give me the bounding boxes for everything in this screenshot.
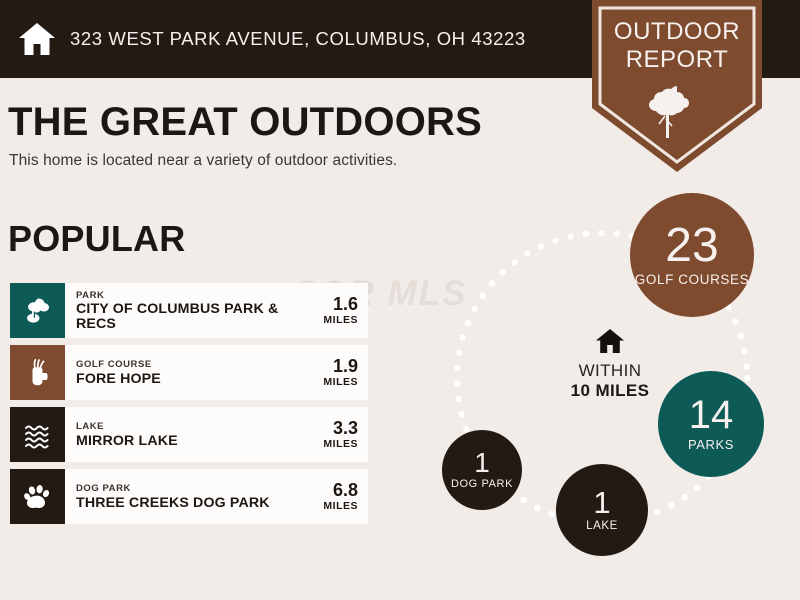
distance-unit: MILES [323, 376, 358, 389]
waves-icon [10, 407, 65, 462]
stat-count: 1 [474, 449, 490, 477]
list-item-card: PARK CITY OF COLUMBUS PARK & RECS 1.6 MI… [65, 283, 368, 338]
list-item-name: FORE HOPE [76, 371, 161, 387]
center-label-line1: WITHIN [530, 361, 690, 381]
stat-count: 1 [593, 487, 610, 518]
badge-title-line1: OUTDOOR [614, 18, 740, 45]
distance-unit: MILES [323, 438, 358, 451]
list-item-name: THREE CREEKS DOG PARK [76, 495, 270, 511]
list-item-distance: 1.6 MILES [317, 295, 358, 327]
popular-list: PARK CITY OF COLUMBUS PARK & RECS 1.6 MI… [10, 283, 368, 531]
property-address: 323 WEST PARK AVENUE, COLUMBUS, OH 43223 [70, 28, 526, 50]
diagram-center-node: WITHIN 10 MILES [530, 328, 690, 401]
list-item-card: GOLF COURSE FORE HOPE 1.9 MILES [65, 345, 368, 400]
list-item-card: LAKE MIRROR LAKE 3.3 MILES [65, 407, 368, 462]
stat-label: GOLF COURSES [635, 273, 749, 288]
stat-label: LAKE [586, 520, 618, 532]
list-item-labels: DOG PARK THREE CREEKS DOG PARK [76, 483, 270, 511]
badge-title: OUTDOOR REPORT [592, 18, 762, 74]
home-icon [18, 22, 56, 56]
distance-unit: MILES [323, 500, 358, 513]
list-item-category: LAKE [76, 421, 178, 433]
header-content: 323 WEST PARK AVENUE, COLUMBUS, OH 43223 [18, 0, 526, 78]
distance-value: 1.6 [323, 295, 358, 314]
page-subtitle: This home is located near a variety of o… [9, 152, 397, 170]
stat-count: 23 [665, 222, 718, 270]
outdoor-report-badge: OUTDOOR REPORT [592, 0, 762, 172]
distance-unit: MILES [323, 314, 358, 327]
stat-bubble-lake[interactable]: 1 LAKE [556, 464, 648, 556]
stat-label: PARKS [688, 438, 734, 452]
list-item-name: CITY OF COLUMBUS PARK & RECS [76, 302, 317, 332]
list-item-labels: PARK CITY OF COLUMBUS PARK & RECS [76, 290, 317, 332]
list-item[interactable]: GOLF COURSE FORE HOPE 1.9 MILES [10, 345, 368, 400]
list-item-distance: 3.3 MILES [317, 419, 358, 451]
page-title: THE GREAT OUTDOORS [8, 100, 482, 145]
distance-value: 3.3 [323, 419, 358, 438]
golf-bag-icon [10, 345, 65, 400]
distance-value: 1.9 [323, 357, 358, 376]
list-item-name: MIRROR LAKE [76, 433, 178, 449]
stat-count: 14 [689, 395, 734, 435]
distance-value: 6.8 [323, 481, 358, 500]
stat-bubble-parks[interactable]: 14 PARKS [658, 371, 764, 477]
list-item-distance: 1.9 MILES [317, 357, 358, 389]
tree-icon [10, 283, 65, 338]
list-item-labels: LAKE MIRROR LAKE [76, 421, 178, 449]
list-item[interactable]: DOG PARK THREE CREEKS DOG PARK 6.8 MILES [10, 469, 368, 524]
popular-section-title: POPULAR [8, 218, 185, 260]
list-item-category: GOLF COURSE [76, 359, 161, 371]
outdoor-report-page: COR MLS 323 WEST PARK AVENUE, COLUMBUS, … [0, 0, 800, 600]
list-item[interactable]: PARK CITY OF COLUMBUS PARK & RECS 1.6 MI… [10, 283, 368, 338]
home-icon [530, 328, 690, 354]
stat-label: DOG PARK [451, 479, 513, 491]
list-item-card: DOG PARK THREE CREEKS DOG PARK 6.8 MILES [65, 469, 368, 524]
list-item[interactable]: LAKE MIRROR LAKE 3.3 MILES [10, 407, 368, 462]
list-item-category: PARK [76, 290, 317, 302]
list-item-distance: 6.8 MILES [317, 481, 358, 513]
stat-bubble-golf-courses[interactable]: 23 GOLF COURSES [630, 193, 754, 317]
paw-icon [10, 469, 65, 524]
stat-bubble-dog-park[interactable]: 1 DOG PARK [442, 430, 522, 510]
within-10-miles-diagram: WITHIN 10 MILES 23 GOLF COURSES 14 PARKS… [410, 180, 800, 600]
list-item-labels: GOLF COURSE FORE HOPE [76, 359, 161, 387]
badge-title-line2: REPORT [592, 46, 762, 74]
list-item-category: DOG PARK [76, 483, 270, 495]
